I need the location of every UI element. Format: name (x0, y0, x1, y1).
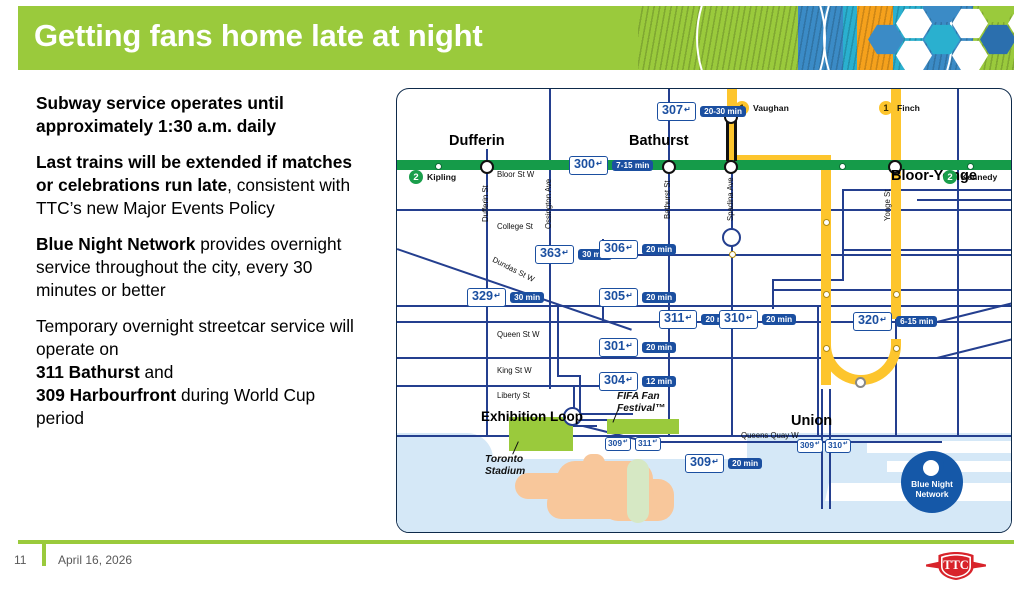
route-freq-301: 20 min (642, 342, 676, 353)
route-freq-309: 20 min (728, 458, 762, 469)
terminus-kipling[interactable]: 2 Kipling (409, 170, 456, 184)
route-badge-320[interactable]: 320↵ 6-15 min (853, 311, 937, 331)
street-label-king: King St W (497, 366, 532, 375)
route-badge-small-310[interactable]: 310↵ (825, 435, 851, 453)
route-freq-307: 20-30 min (700, 106, 746, 117)
station-label-exhibition-loop: Exhibition Loop (481, 409, 583, 424)
street-label-ossington: Ossington Ave (544, 179, 553, 229)
route-number-306-text: 306 (604, 241, 625, 257)
station-yellow-4[interactable] (823, 345, 830, 352)
annotation-fifa-fan-festival: FIFA Fan Festival™ (617, 391, 665, 414)
street-label-bloor: Bloor St W (497, 170, 534, 179)
route-jog-5 (557, 375, 581, 377)
route-arrow-icon: ↵ (746, 313, 753, 323)
blue-night-network-label: Blue Night Network (901, 480, 963, 500)
route-number-311-text: 311 (664, 311, 684, 327)
route-arrow-icon: ↵ (494, 291, 501, 301)
route-number-307-text: 307 (662, 103, 683, 119)
route-number-301: 301↵ (599, 338, 638, 357)
route-jog-19 (842, 189, 1012, 191)
page-number: 11 (14, 553, 26, 567)
lake-west-bay (397, 433, 493, 463)
transit-map[interactable]: Dufferin Bathurst Bloor-Yonge Union Exhi… (396, 88, 1012, 533)
route-arrow-icon: ↵ (685, 313, 692, 323)
terminus-label-finch: Finch (897, 103, 920, 113)
route-arrow-icon: ↵ (653, 439, 658, 447)
route-badge-300[interactable]: 300↵ 7-15 min (569, 155, 653, 175)
annotation-stadium-line2: Stadium (485, 466, 525, 477)
route-number-small-309b-text: 309 (800, 440, 814, 451)
route-arrow-icon: ↵ (684, 105, 691, 115)
station-union[interactable] (855, 377, 866, 388)
bullet-blue-night-bold: Blue Night Network (36, 234, 195, 254)
street-label-queens-quay: Queens Quay W (741, 431, 799, 440)
street-label-college: College St (497, 222, 533, 231)
bullet-subway-hours: Subway service operates until approximat… (36, 92, 366, 138)
terminus-finch[interactable]: 1 Finch (879, 101, 920, 115)
line2-badge-kipling: 2 (409, 170, 423, 184)
bullet-route-311: 311 Bathurst (36, 362, 140, 382)
route-freq-320: 6-15 min (896, 316, 937, 327)
route-badge-small-309b[interactable]: 309↵ (797, 435, 823, 453)
street-label-dundas: Dundas St W (491, 255, 536, 284)
annotation-fifa-line2: Festival™ (617, 403, 665, 414)
route-freq-329: 30 min (510, 292, 544, 303)
bullet-streetcar: Temporary overnight streetcar service wi… (36, 315, 366, 430)
blue-night-network-badge[interactable]: Blue Night Network (901, 451, 963, 513)
route-arrow-icon: ↵ (843, 441, 848, 449)
bnn-line1: Blue Night (911, 479, 953, 489)
annotation-stadium-line1: Toronto (485, 454, 523, 465)
bullet-subway-hours-text: Subway service operates until approximat… (36, 93, 284, 136)
street-lakeshore (397, 435, 1012, 437)
route-number-329-text: 329 (472, 289, 493, 305)
street-label-liberty: Liberty St (497, 391, 530, 400)
route-number-small-310-text: 310 (828, 440, 842, 451)
route-freq-305: 20 min (642, 292, 676, 303)
route-number-306: 306↵ (599, 240, 638, 259)
route-number-309: 309↵ (685, 454, 724, 473)
route-number-304-text: 304 (604, 373, 625, 389)
spadina-circle-marker (722, 228, 741, 247)
route-arrow-icon: ↵ (596, 159, 603, 169)
route-freq-304: 12 min (642, 376, 676, 387)
route-number-310: 310↵ (719, 310, 758, 329)
route-number-310-text: 310 (724, 311, 745, 327)
station-label-dufferin: Dufferin (449, 133, 505, 149)
route-number-small-309a-text: 309 (608, 438, 622, 449)
terminus-label-vaughan: Vaughan (753, 103, 789, 113)
bullet-blue-night: Blue Night Network provides overnight se… (36, 233, 366, 302)
route-badge-301[interactable]: 301↵ 20 min (599, 337, 676, 357)
street-label-bathurst-st: Bathurst St (663, 180, 672, 219)
station-green-4[interactable] (839, 163, 846, 170)
route-number-329: 329↵ (467, 288, 506, 307)
terminus-label-kennedy: Kennedy (961, 172, 997, 182)
route-number-305-text: 305 (604, 289, 625, 305)
route-jog-15 (842, 249, 1012, 251)
route-number-small-311: 311↵ (635, 437, 661, 451)
route-arrow-icon: ↵ (815, 441, 820, 449)
route-arrow-icon: ↵ (626, 375, 633, 385)
route-badge-310[interactable]: 310↵ 20 min (719, 309, 796, 329)
line2-badge-kennedy: 2 (943, 170, 957, 184)
route-number-311: 311↵ (659, 310, 697, 329)
route-badge-304[interactable]: 304↵ 12 min (599, 371, 676, 391)
street-label-dufferin-st: Dufferin St (481, 185, 490, 222)
svg-text:TTC: TTC (943, 558, 968, 572)
route-number-300-text: 300 (574, 157, 595, 173)
street-king (397, 357, 1012, 359)
route-number-309-text: 309 (690, 455, 711, 471)
terminus-kennedy[interactable]: 2 Kennedy (943, 170, 997, 184)
page-title: Getting fans home late at night (34, 18, 483, 54)
route-number-363: 363↵ (535, 245, 574, 264)
station-label-bathurst: Bathurst (629, 133, 689, 149)
route-jog-14 (842, 249, 844, 281)
crescent-moon-icon (923, 460, 939, 476)
route-arrow-icon: ↵ (626, 291, 633, 301)
route-arrow-icon: ↵ (626, 341, 633, 351)
route-number-small-310: 310↵ (825, 439, 851, 453)
bullet-streetcar-intro: Temporary overnight streetcar service wi… (36, 316, 354, 359)
route-jog-16 (912, 289, 1012, 291)
route-badge-small-309a[interactable]: 309↵ (605, 433, 631, 451)
route-arrow-icon: ↵ (562, 248, 569, 258)
bullet-route-309: 309 Harbourfront (36, 385, 176, 405)
route-number-363-text: 363 (540, 246, 561, 262)
route-badge-309[interactable]: 309↵ 20 min (685, 453, 762, 473)
annotation-toronto-stadium: Toronto Stadium (485, 454, 525, 477)
ttc-logo: TTC (925, 551, 987, 581)
route-number-300: 300↵ (569, 156, 608, 175)
route-number-small-311-text: 311 (638, 438, 652, 449)
route-number-320: 320↵ (853, 312, 892, 331)
street-label-yonge-st: Yonge St (883, 190, 892, 221)
route-badge-306[interactable]: 306↵ 20 min (599, 239, 676, 259)
route-badge-305[interactable]: 305↵ 20 min (599, 287, 676, 307)
route-badge-329[interactable]: 329↵ 30 min (467, 287, 544, 307)
route-jog-17 (917, 199, 1012, 201)
fifa-fan-festival-area (607, 419, 679, 434)
island-park (627, 459, 649, 523)
route-number-small-309a: 309↵ (605, 437, 631, 451)
bnn-line2: Network (915, 489, 948, 499)
street-liberty (397, 385, 617, 387)
island-hanlans (583, 454, 605, 472)
station-yellow-3[interactable] (823, 291, 830, 298)
route-number-307: 307↵ (657, 102, 696, 121)
route-arrow-icon: ↵ (623, 439, 628, 447)
route-number-320-text: 320 (858, 313, 879, 329)
line1-badge-finch: 1 (879, 101, 893, 115)
station-green-1[interactable] (435, 163, 442, 170)
street-label-spadina-ave: Spadina Ave (726, 177, 735, 221)
station-bathurst[interactable] (662, 160, 676, 174)
route-arrow-icon: ↵ (880, 315, 887, 325)
route-freq-306: 20 min (642, 244, 676, 255)
station-yellow-2[interactable] (823, 219, 830, 226)
slide-header: Getting fans home late at night (18, 6, 1014, 70)
route-jog-18 (842, 189, 844, 251)
route-number-305: 305↵ (599, 288, 638, 307)
street-label-queen: Queen St W (497, 330, 539, 339)
route-badge-307[interactable]: 307↵ 20-30 min (657, 101, 746, 121)
route-arrow-icon: ↵ (626, 243, 633, 253)
line1-yonge-leg (891, 89, 901, 319)
route-arrow-icon: ↵ (712, 457, 719, 467)
route-number-304: 304↵ (599, 372, 638, 391)
slide: Getting fans home late at night Subway s… (0, 0, 1024, 589)
footer-tick (42, 540, 46, 566)
station-spadina[interactable] (724, 160, 738, 174)
route-jog-12 (772, 279, 842, 281)
route-freq-310: 20 min (762, 314, 796, 325)
bullet-last-trains: Last trains will be extended if matches … (36, 151, 366, 220)
header-decoration (638, 6, 1014, 70)
terminus-label-kipling: Kipling (427, 172, 456, 182)
station-dufferin[interactable] (480, 160, 494, 174)
route-number-small-309b: 309↵ (797, 439, 823, 453)
station-yellow-6[interactable] (893, 345, 900, 352)
footer-divider (18, 540, 1014, 544)
route-freq-300: 7-15 min (612, 160, 653, 171)
route-jog-3 (557, 305, 605, 307)
route-jog-2 (602, 305, 604, 323)
street-ossington (549, 89, 551, 389)
route-badge-small-311[interactable]: 311↵ (635, 433, 661, 451)
station-yellow-5[interactable] (893, 291, 900, 298)
footer-date: April 16, 2026 (58, 553, 132, 567)
route-jog-11 (772, 279, 774, 309)
bullet-list: Subway service operates until approximat… (36, 92, 366, 443)
bullet-and: and (140, 362, 174, 382)
route-jog-4 (557, 305, 559, 377)
annotation-fifa-line1: FIFA Fan (617, 391, 660, 402)
station-yellow-1[interactable] (729, 251, 736, 258)
station-label-union: Union (791, 413, 832, 429)
route-number-301-text: 301 (604, 339, 625, 355)
street-east-1 (957, 89, 959, 435)
